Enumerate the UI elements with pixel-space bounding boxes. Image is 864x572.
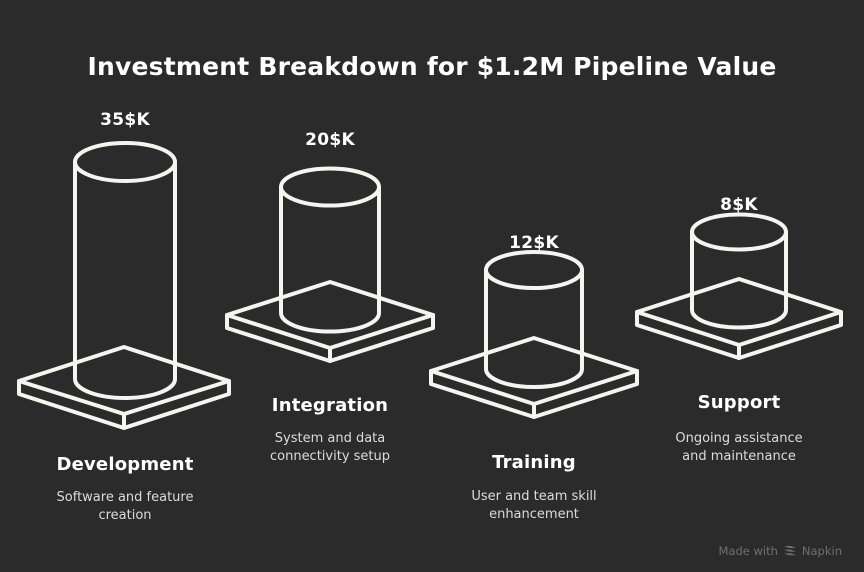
value-label-support: 8$K: [659, 195, 819, 215]
chart-item-development: [19, 143, 229, 428]
cylinder-training: [486, 252, 582, 387]
category-desc-integration-line1: System and data: [228, 430, 432, 448]
page-title: Investment Breakdown for $1.2M Pipeline …: [0, 52, 864, 81]
category-desc-integration-line2: connectivity setup: [228, 448, 432, 466]
category-desc-training-line1: User and team skill: [432, 488, 636, 506]
value-label-training: 12$K: [454, 233, 614, 253]
category-desc-training: User and team skill enhancement: [432, 488, 636, 524]
pedestal-support: [637, 279, 841, 358]
watermark: Made with Napkin: [719, 544, 843, 558]
category-desc-integration: System and data connectivity setup: [228, 430, 432, 466]
category-desc-development-line1: Software and feature: [23, 489, 227, 507]
category-desc-development-line2: creation: [23, 507, 227, 525]
category-title-integration: Integration: [240, 395, 420, 416]
pedestal-integration: [227, 282, 433, 361]
watermark-prefix: Made with: [719, 544, 778, 558]
category-desc-development: Software and feature creation: [23, 489, 227, 525]
cylinder-support: [692, 215, 786, 328]
category-desc-support-line1: Ongoing assistance: [637, 430, 841, 448]
chart-item-training: [431, 252, 637, 417]
category-desc-support: Ongoing assistance and maintenance: [637, 430, 841, 466]
category-desc-training-line2: enhancement: [432, 506, 636, 524]
isometric-cylinder-chart: [0, 0, 864, 572]
pedestal-development: [19, 347, 229, 428]
chart-item-support: [637, 215, 841, 359]
pedestal-training: [431, 338, 637, 417]
napkin-chevron-icon: [783, 545, 797, 557]
category-desc-support-line2: and maintenance: [637, 448, 841, 466]
category-title-support: Support: [649, 392, 829, 413]
value-label-development: 35$K: [45, 110, 205, 130]
chart-item-integration: [227, 169, 433, 362]
category-title-training: Training: [444, 452, 624, 473]
cylinder-integration: [281, 169, 379, 332]
category-title-development: Development: [35, 454, 215, 475]
value-label-integration: 20$K: [250, 130, 410, 150]
watermark-brand: Napkin: [802, 544, 842, 558]
